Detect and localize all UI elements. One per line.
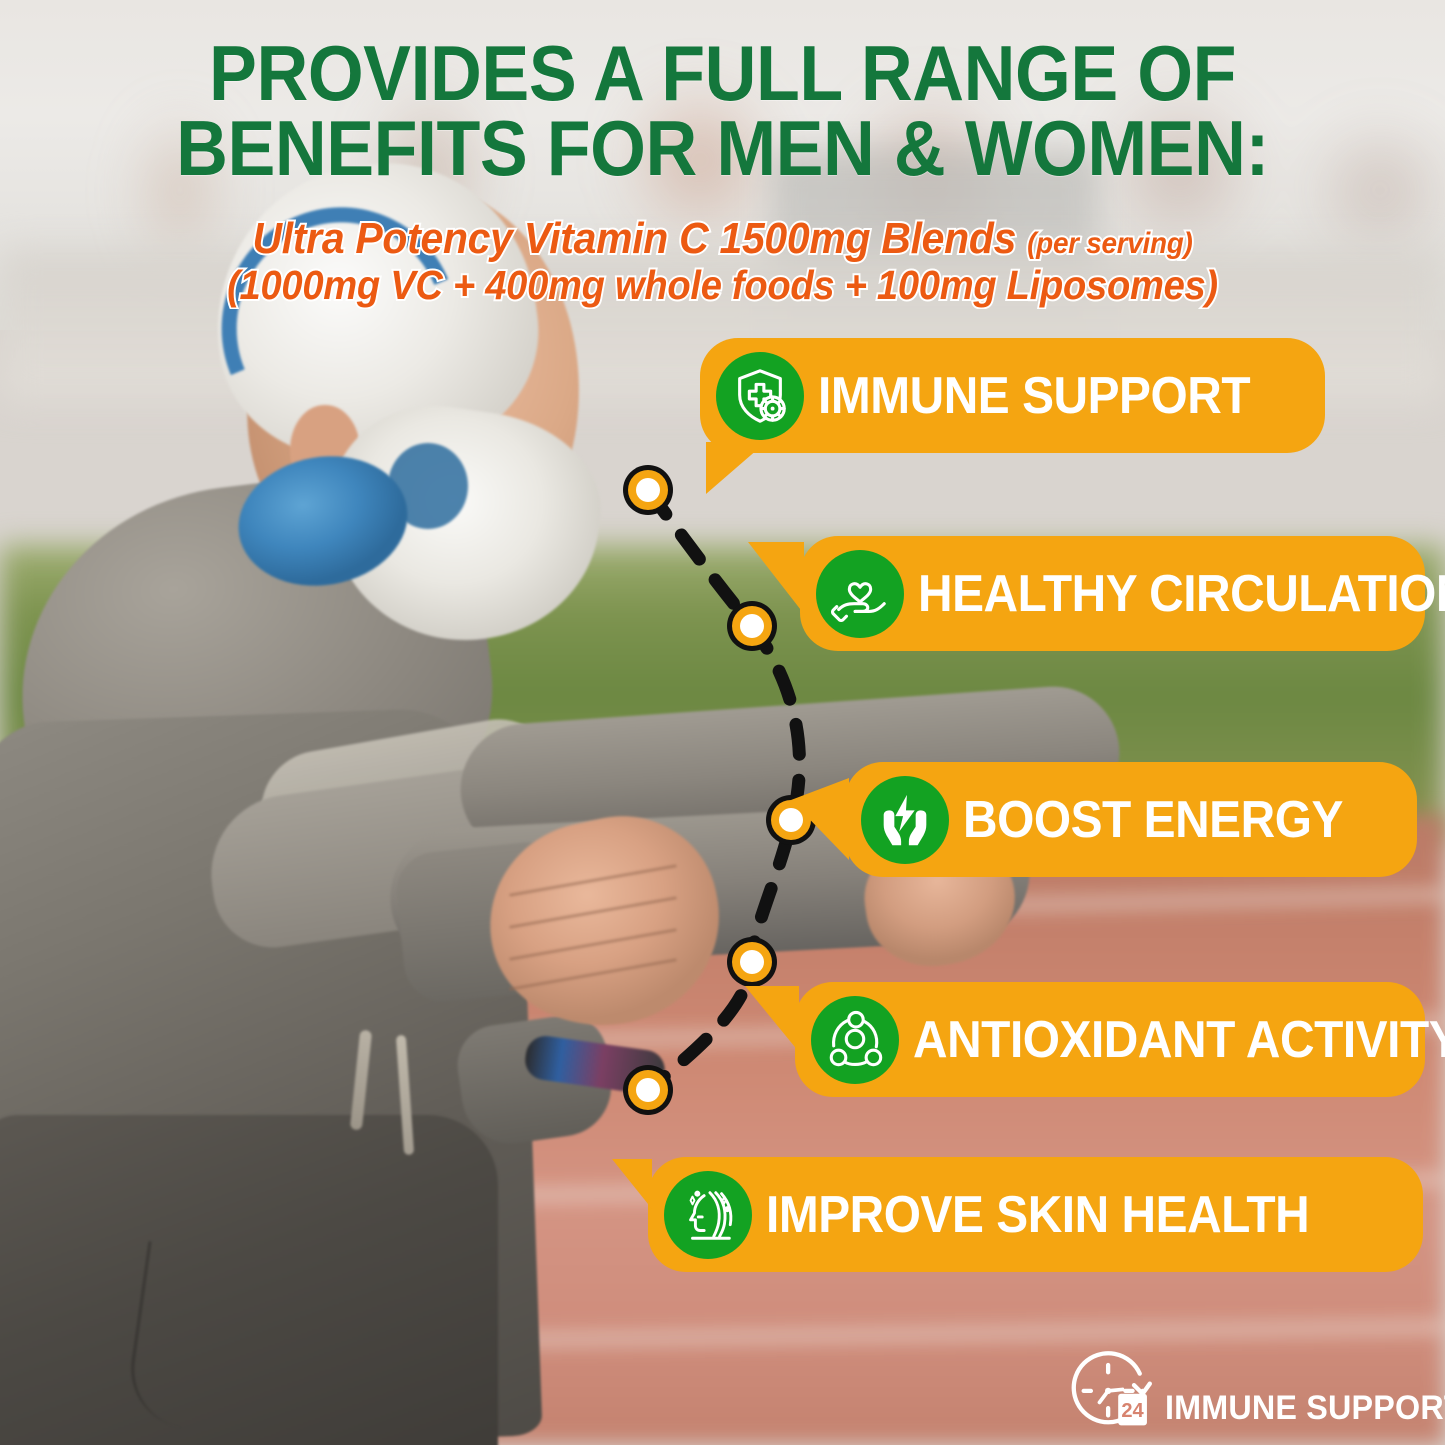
- benefit-badge-improve-skin-health[interactable]: IMPROVE SKIN HEALTH: [648, 1157, 1423, 1272]
- benefit-badge-boost-energy[interactable]: BOOST ENERGY: [845, 762, 1417, 877]
- path-node: [727, 937, 777, 987]
- footer-immune-support-logo: 24 IMMUNE SUPPORT*: [1065, 1342, 1445, 1434]
- path-node: [623, 1065, 673, 1115]
- benefit-label: ANTIOXIDANT ACTIVITY: [913, 1014, 1445, 1066]
- footer-label: IMMUNE SUPPORT*: [1165, 1389, 1445, 1434]
- path-node: [623, 465, 673, 515]
- benefit-label: IMPROVE SKIN HEALTH: [766, 1189, 1309, 1241]
- benefit-badge-healthy-circulation[interactable]: HEALTHY CIRCULATION: [800, 536, 1425, 651]
- badge-tail: [612, 1159, 652, 1209]
- footer-badge-number: 24: [1121, 1400, 1144, 1422]
- molecule-icon: [811, 996, 899, 1084]
- benefit-label: IMMUNE SUPPORT: [818, 370, 1250, 422]
- badge-tail: [706, 442, 766, 494]
- badge-tail: [791, 778, 849, 860]
- hand-heart-icon: [816, 550, 904, 638]
- badge-tail: [745, 986, 799, 1052]
- benefit-badge-immune-support[interactable]: IMMUNE SUPPORT: [700, 338, 1325, 453]
- hands-lightning-icon: [861, 776, 949, 864]
- face-skin-icon: [664, 1171, 752, 1259]
- badge-tail: [748, 542, 804, 614]
- clock-24h-icon: 24: [1065, 1342, 1157, 1434]
- benefit-label: HEALTHY CIRCULATION: [918, 568, 1445, 620]
- benefit-label: BOOST ENERGY: [963, 794, 1343, 846]
- benefit-badge-antioxidant-activity[interactable]: ANTIOXIDANT ACTIVITY: [795, 982, 1425, 1097]
- shield-virus-icon: [716, 352, 804, 440]
